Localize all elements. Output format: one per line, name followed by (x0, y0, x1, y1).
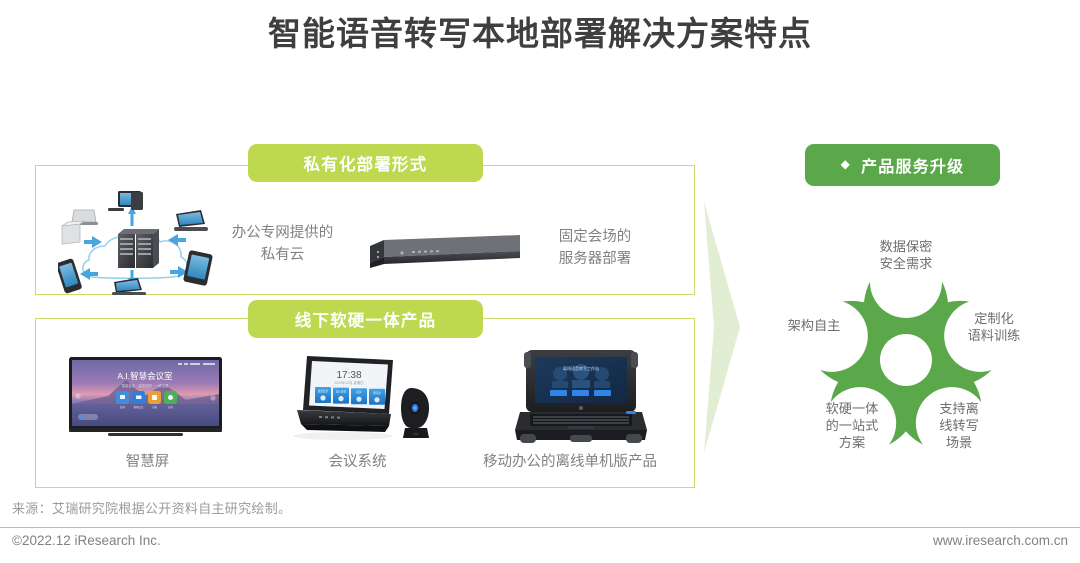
rack-server-icon (370, 232, 520, 268)
svg-text:离线语音转写工作站: 离线语音转写工作站 (563, 365, 599, 371)
caption-venue-server: 固定会场的服务器部署 (520, 226, 670, 270)
source-note: 来源：艾瑞研究院根据公开资料自主研究绘制。 (12, 498, 291, 517)
footer-copyright: ©2022.12 iResearch Inc. (12, 533, 161, 548)
right-arrow-icon (700, 200, 760, 455)
smart-screen-icon: A.I.智慧会议室 智能会议 · 高效协同 · 一键投屏 投屏视频会议 白板应用 (68, 356, 223, 440)
footer-website[interactable]: www.iresearch.com.cn (933, 533, 1068, 548)
caption-private-cloud: 办公专网提供的私有云 (205, 222, 360, 266)
svg-text:智能会议 · 高效协同 · 一键投屏: 智能会议 · 高效协同 · 一键投屏 (122, 383, 169, 388)
page-title: 智能语音转写本地部署解决方案特点 (0, 10, 1080, 58)
svg-text:加入会议: 加入会议 (336, 390, 347, 394)
badge-private-deploy[interactable]: 私有化部署形式 (248, 144, 483, 182)
svg-text:白板: 白板 (152, 405, 157, 409)
badge-private-deploy-label: 私有化部署形式 (304, 151, 428, 175)
svg-text:应用: 应用 (168, 405, 173, 409)
badge-offline-products-label: 线下软硬一体产品 (295, 307, 437, 331)
svg-text:2022年12月 星期四: 2022年12月 星期四 (334, 380, 364, 385)
svg-text:投屏: 投屏 (120, 405, 125, 409)
svg-text:发起会议: 发起会议 (318, 389, 329, 393)
caption-smart-screen: 智慧屏 (75, 452, 220, 472)
five-petal-flower-diagram (762, 212, 1050, 484)
cloud-network-icon (58, 190, 213, 295)
svg-text:MIC: MIC (413, 432, 419, 436)
svg-text:通讯录: 通讯录 (373, 391, 381, 395)
slide-canvas: 智能语音转写本地部署解决方案特点 私有化部署形式 线下软硬一体产品 ◆ 产品服务… (0, 0, 1080, 563)
svg-text:A.I.智慧会议室: A.I.智慧会议室 (117, 371, 173, 381)
conference-terminal-icon: 17:38 2022年12月 星期四 发起会议加入会议 投屏通讯录 (283, 352, 443, 444)
badge-product-service-upgrade-label: 产品服务升级 (861, 153, 964, 177)
caption-mobile-offline-product: 移动办公的离线单机版产品 (455, 452, 685, 472)
caption-conference-system: 会议系统 (285, 452, 430, 472)
svg-text:17:38: 17:38 (336, 370, 361, 381)
badge-product-service-upgrade[interactable]: ◆ 产品服务升级 (805, 144, 1000, 186)
badge-offline-products[interactable]: 线下软硬一体产品 (248, 300, 483, 338)
footer-divider (0, 527, 1080, 528)
svg-text:投屏: 投屏 (356, 390, 362, 394)
diamond-icon: ◆ (841, 158, 851, 170)
rugged-laptop-icon: 离线语音转写工作站 (508, 348, 653, 446)
svg-text:视频会议: 视频会议 (134, 405, 144, 409)
